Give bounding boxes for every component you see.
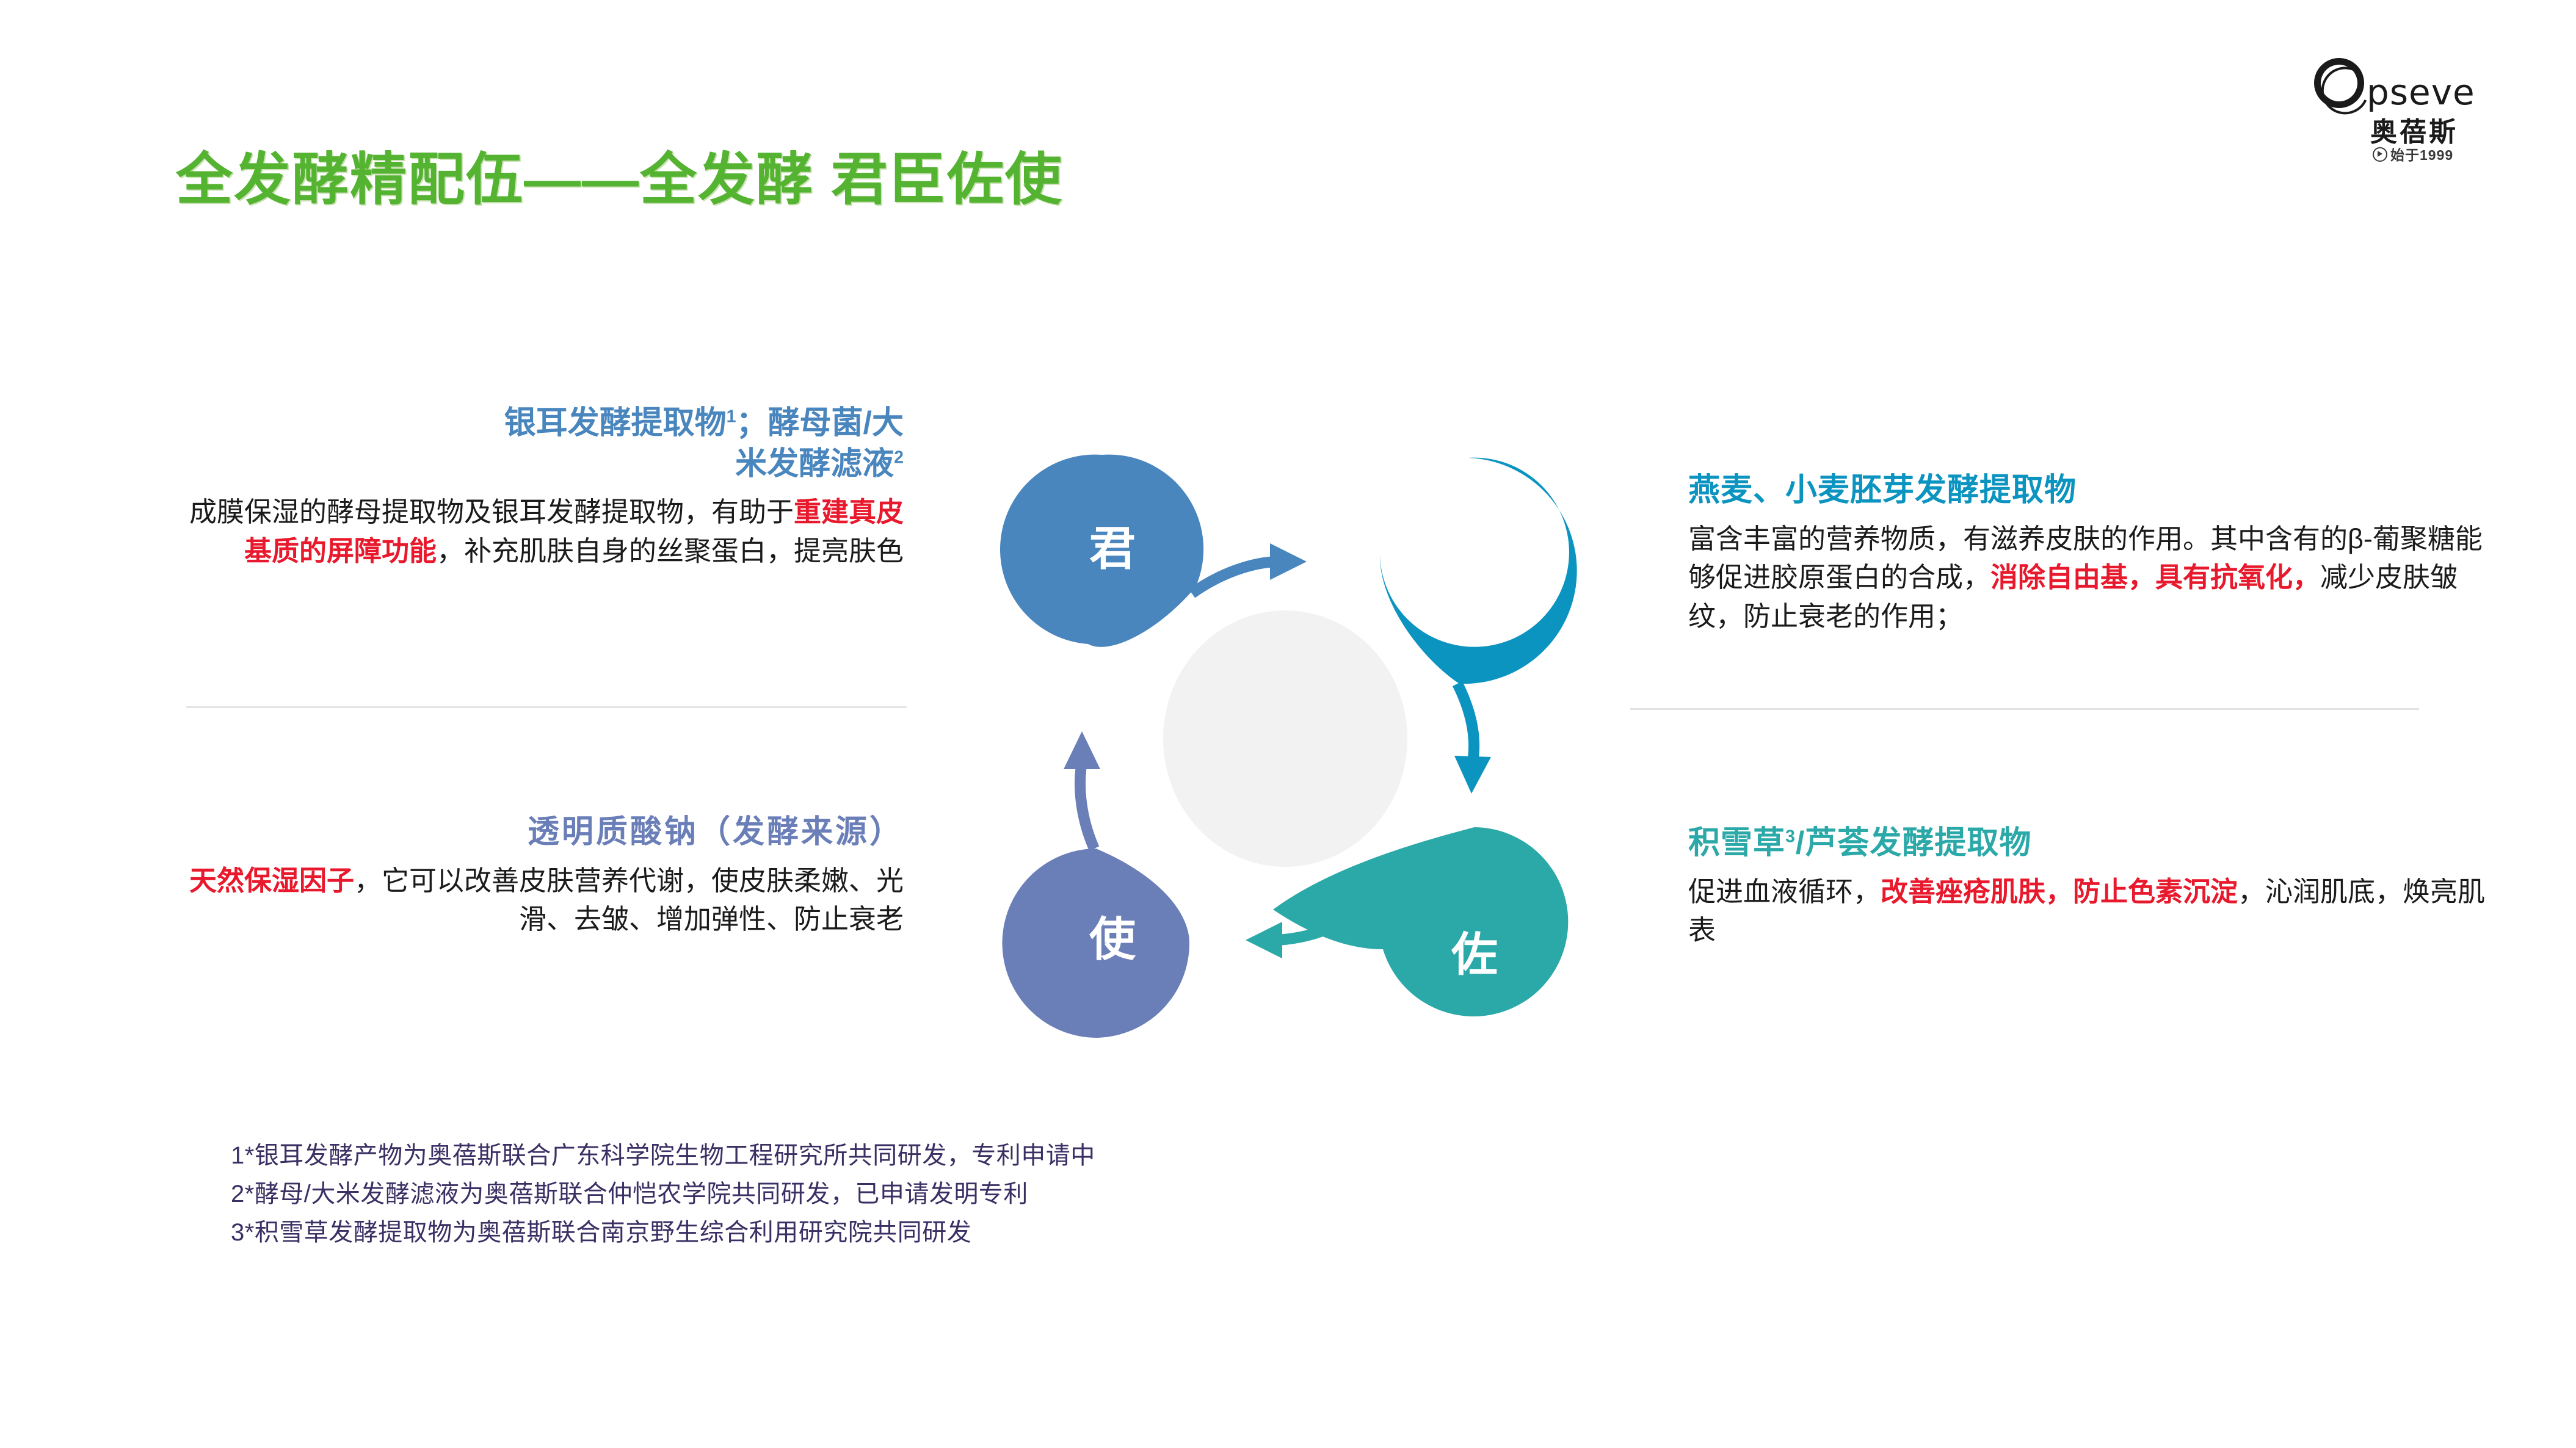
heading-text-line1-tail: ；酵母菌/大 xyxy=(736,405,904,441)
heading-text-line2: 米发酵滤液 xyxy=(735,446,894,482)
footnote-item: 3*积雪草发酵提取物为奥蓓斯联合南京野生综合利用研究院共同研发 xyxy=(231,1214,1095,1252)
body-text-part1: 成膜保湿的酵母提取物及银耳发酵提取物，有助于 xyxy=(189,496,794,527)
brand-logo: pseve 奥蓓斯 始于1999 xyxy=(2314,58,2516,162)
body-highlight: 改善痤疮肌肤，防止色素沉淀 xyxy=(1881,876,2238,907)
ingredient-heading-hyaluronate: 透明质酸钠（发酵来源） xyxy=(183,812,904,853)
cycle-node-jun-label: 君 xyxy=(1089,523,1136,575)
brand-since-text: 始于1999 xyxy=(2390,147,2453,163)
body-text-part2: ，补充肌肤自身的丝聚蛋白，提亮肤色 xyxy=(437,535,904,567)
divider-right xyxy=(1630,708,2419,710)
ingredient-block-centella-aloe: 积雪草3/芦荟发酵提取物 促进血液循环，改善痤疮肌肤，防止色素沉淀，沁润肌底，焕… xyxy=(1688,823,2488,950)
heading-text-part1: 积雪草 xyxy=(1688,825,1785,861)
ingredient-body-centella-aloe: 促进血液循环，改善痤疮肌肤，防止色素沉淀，沁润肌底，焕亮肌表 xyxy=(1688,872,2488,950)
cycle-arrow-shi-to-jun xyxy=(1064,731,1100,849)
ingredient-body-hyaluronate: 天然保湿因子，它可以改善皮肤营养代谢，使皮肤柔嫩、光滑、去皱、增加弹性、防止衰老 xyxy=(183,861,904,939)
brand-wordmark: pseve xyxy=(2367,71,2475,113)
footnote-ref-1: 1 xyxy=(727,407,736,427)
jun-chen-zuo-shi-cycle-diagram: 君 臣 佐 使 xyxy=(952,427,1618,1038)
divider-left xyxy=(186,706,907,708)
footnote-ref-3: 3 xyxy=(1785,827,1796,847)
brand-since-tagline: 始于1999 xyxy=(2373,143,2453,164)
ingredient-block-tremella: 银耳发酵提取物1；酵母菌/大 米发酵滤液2 成膜保湿的酵母提取物及银耳发酵提取物… xyxy=(183,403,904,571)
body-highlight: 天然保湿因子 xyxy=(189,865,354,896)
cycle-node-shi-label: 使 xyxy=(1089,914,1136,966)
ingredient-block-oat-wheat: 燕麦、小麦胚芽发酵提取物 富含丰富的营养物质，有滋养皮肤的作用。其中含有的β-葡… xyxy=(1688,470,2488,636)
ingredient-body-oat-wheat: 富含丰富的营养物质，有滋养皮肤的作用。其中含有的β-葡聚糖能够促进胶原蛋白的合成… xyxy=(1688,519,2488,637)
body-text-part1: 促进血液循环， xyxy=(1688,876,1881,907)
ingredient-block-hyaluronate: 透明质酸钠（发酵来源） 天然保湿因子，它可以改善皮肤营养代谢，使皮肤柔嫩、光滑、… xyxy=(183,812,904,939)
footnotes-list: 1*银耳发酵产物为奥蓓斯联合广东科学院生物工程研究所共同研发，专利申请中 2*酵… xyxy=(231,1137,1095,1253)
footnote-ref-2: 2 xyxy=(894,447,904,467)
diagram-center-circle xyxy=(1163,610,1407,867)
cycle-node-chen-label: 臣 xyxy=(1451,523,1498,575)
cycle-node-zuo-label: 佐 xyxy=(1451,929,1498,981)
body-highlight: 消除自由基，具有抗氧化， xyxy=(1990,562,2320,593)
cycle-arrow-chen-to-zuo xyxy=(1454,684,1491,794)
ingredient-heading-oat-wheat: 燕麦、小麦胚芽发酵提取物 xyxy=(1688,470,2488,511)
play-circle-icon xyxy=(2373,147,2387,162)
cycle-arrow-jun-to-chen xyxy=(1192,543,1307,593)
ingredient-heading-centella-aloe: 积雪草3/芦荟发酵提取物 xyxy=(1688,823,2488,864)
ingredient-body-tremella: 成膜保湿的酵母提取物及银耳发酵提取物，有助于重建真皮基质的屏障功能，补充肌肤自身… xyxy=(183,493,904,571)
footnote-item: 1*银耳发酵产物为奥蓓斯联合广东科学院生物工程研究所共同研发，专利申请中 xyxy=(231,1137,1095,1175)
ingredient-heading-tremella: 银耳发酵提取物1；酵母菌/大 米发酵滤液2 xyxy=(183,403,904,484)
footnote-item: 2*酵母/大米发酵滤液为奥蓓斯联合仲恺农学院共同研发，已申请发明专利 xyxy=(231,1175,1095,1214)
page-title: 全发酵精配伍——全发酵 君臣佐使 xyxy=(176,133,1063,215)
body-text-part2: ，它可以改善皮肤营养代谢，使皮肤柔嫩、光滑、去皱、增加弹性、防止衰老 xyxy=(354,865,904,935)
heading-text-part2: /芦荟发酵提取物 xyxy=(1796,825,2031,861)
circle-ring-logo-icon xyxy=(2307,51,2371,115)
heading-text-line1: 银耳发酵提取物 xyxy=(504,405,727,441)
